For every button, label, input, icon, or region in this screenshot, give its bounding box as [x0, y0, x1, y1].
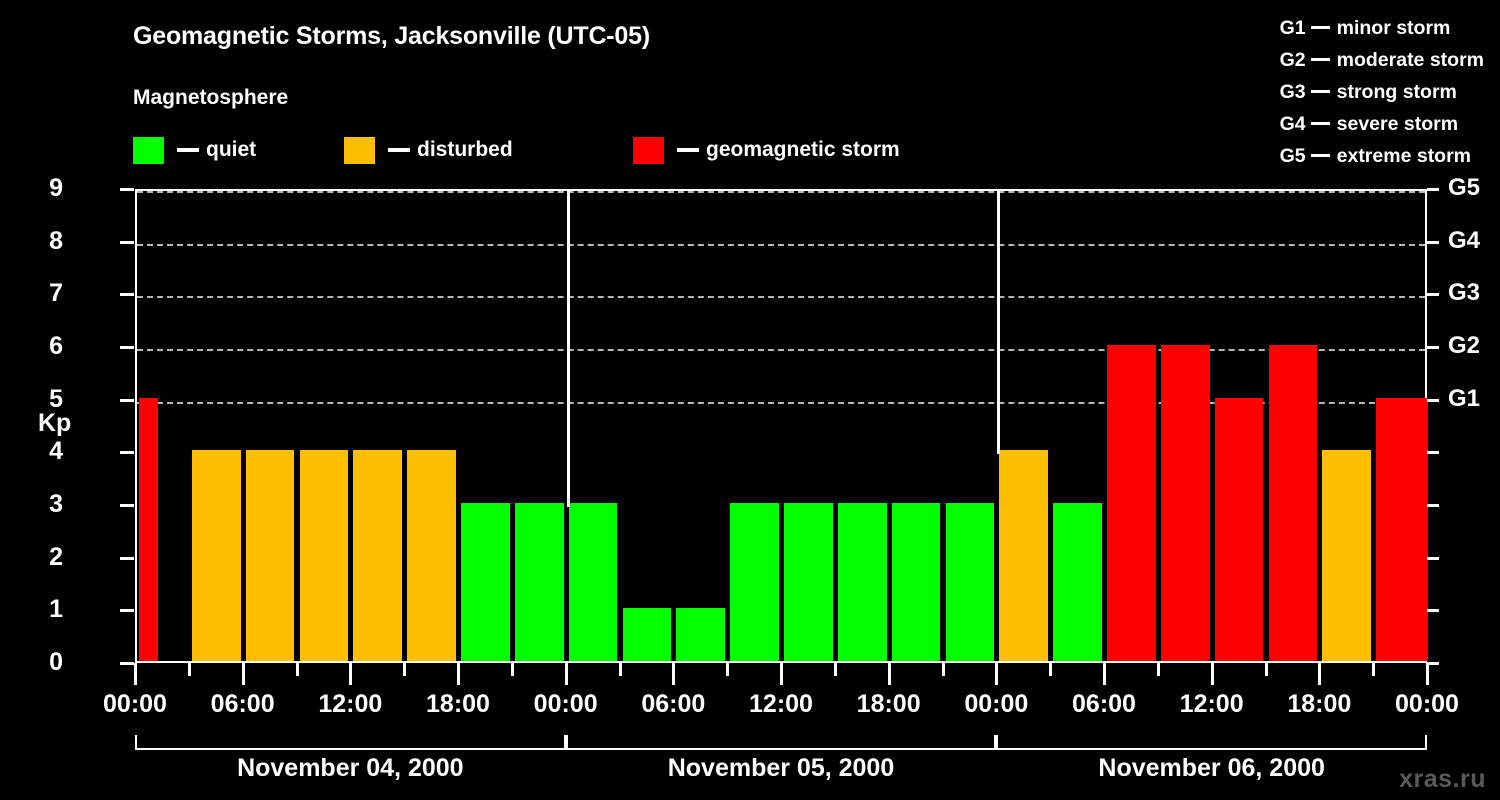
gscale-text: extreme storm [1337, 145, 1471, 167]
y-axis-right-tick-mark [1427, 399, 1439, 402]
page-title: Geomagnetic Storms, Jacksonville (UTC-05… [133, 22, 650, 51]
y-axis-tick-label: 7 [23, 281, 63, 306]
g-axis-tick-label: G1 [1448, 387, 1480, 411]
y-axis-right-tick-mark [1427, 609, 1439, 612]
y-axis-tick-mark [120, 399, 134, 402]
x-axis-minor-tick-mark [1265, 663, 1268, 676]
gscale-text: severe storm [1337, 113, 1458, 135]
gridline-kp-8 [137, 244, 1425, 246]
bar-kp [1322, 450, 1371, 661]
y-axis-tick-label: 1 [23, 597, 63, 622]
day-bracket-rule [996, 748, 1427, 750]
gscale-row-g1: G1minor storm [1280, 12, 1484, 44]
x-axis-tick-mark [888, 663, 891, 685]
gridline-kp-6 [137, 349, 1425, 351]
gscale-dash-icon [1311, 122, 1330, 125]
x-axis-tick-mark [565, 663, 568, 685]
x-axis-minor-tick-mark [403, 663, 406, 676]
gscale-code: G4 [1280, 113, 1306, 135]
bar-kp [999, 450, 1048, 661]
x-axis-minor-tick-mark [942, 663, 945, 676]
x-axis-tick-mark [457, 663, 460, 685]
legend-dash-icon [177, 148, 199, 152]
y-axis-tick-mark [120, 346, 134, 349]
day-divider-line [997, 191, 1000, 454]
bar-kp [515, 503, 564, 661]
gscale-code: G3 [1280, 81, 1306, 103]
g-axis-tick-label: G4 [1448, 229, 1480, 253]
g-axis-tick-label: G5 [1448, 176, 1480, 200]
bar-kp [676, 608, 725, 661]
gscale-text: moderate storm [1337, 49, 1484, 71]
y-axis-right-tick-mark [1427, 346, 1439, 349]
magnetosphere-label: Magnetosphere [133, 86, 288, 110]
gscale-row-g5: G5extreme storm [1280, 140, 1484, 172]
day-bracket-cap [996, 735, 998, 750]
y-axis-tick-mark [120, 504, 134, 507]
day-bracket-cap [1425, 735, 1427, 750]
bar-kp [1053, 503, 1102, 661]
y-axis-tick-mark [120, 609, 134, 612]
y-axis-tick-mark [120, 557, 134, 560]
bar-kp [1409, 398, 1428, 661]
gscale-dash-icon [1311, 90, 1330, 93]
day-label: November 05, 2000 [566, 754, 997, 783]
x-axis-minor-tick-mark [1157, 663, 1160, 676]
legend-item-geomagnetic-storm: geomagnetic storm [633, 134, 900, 166]
x-axis-tick-mark [242, 663, 245, 685]
chart-plot-area [135, 189, 1427, 663]
legend-label: geomagnetic storm [706, 138, 900, 162]
x-axis-tick-mark [134, 663, 137, 685]
bar-kp [192, 450, 241, 661]
bar-kp [300, 450, 349, 661]
bar-kp [246, 450, 295, 661]
day-bracket-cap [135, 735, 137, 750]
bar-kp [569, 503, 618, 661]
gscale-code: G2 [1280, 49, 1306, 71]
gscale-row-g2: G2moderate storm [1280, 44, 1484, 76]
bar-kp [461, 503, 510, 661]
legend-dash-icon [388, 148, 410, 152]
y-axis-tick-label: 4 [23, 439, 63, 464]
bar-kp [1161, 345, 1210, 661]
legend-item-disturbed: disturbed [344, 134, 513, 166]
bar-kp [892, 503, 941, 661]
day-divider-line [567, 191, 570, 507]
x-axis-minor-tick-mark [834, 663, 837, 676]
g-axis-tick-label: G3 [1448, 281, 1480, 305]
x-axis-tick-label: 00:00 [1347, 690, 1500, 719]
y-axis-tick-mark [120, 293, 134, 296]
day-bracket-rule [135, 748, 566, 750]
y-axis-right-tick-mark [1427, 293, 1439, 296]
day-bracket-rule [566, 748, 997, 750]
y-axis-right-tick-mark [1427, 451, 1439, 454]
x-axis-minor-tick-mark [1049, 663, 1052, 676]
x-axis-tick-mark [995, 663, 998, 685]
x-axis-tick-mark [1211, 663, 1214, 685]
gscale-code: G5 [1280, 145, 1306, 167]
green-square-swatch [133, 137, 164, 164]
gscale-dash-icon [1311, 26, 1330, 29]
y-axis-tick-mark [120, 241, 134, 244]
legend-dash-icon [677, 148, 699, 152]
g-scale-legend: G1minor stormG2moderate stormG3strong st… [1280, 12, 1484, 172]
x-axis-tick-mark [1103, 663, 1106, 685]
legend-label: disturbed [417, 138, 513, 162]
y-axis-tick-label: 3 [23, 492, 63, 517]
g-axis-tick-label: G2 [1448, 334, 1480, 358]
gscale-text: minor storm [1337, 17, 1451, 39]
x-axis-minor-tick-mark [188, 663, 191, 676]
bar-kp [1269, 345, 1318, 661]
y-axis-title: Kp [38, 409, 71, 438]
y-axis-tick-label: 6 [23, 334, 63, 359]
x-axis-minor-tick-mark [726, 663, 729, 676]
y-axis-tick-mark [120, 451, 134, 454]
y-axis-tick-label: 9 [23, 176, 63, 201]
bar-kp [946, 503, 995, 661]
x-axis-tick-mark [1318, 663, 1321, 685]
day-bracket-cap [566, 735, 568, 750]
day-label: November 06, 2000 [996, 754, 1427, 783]
gscale-row-g3: G3strong storm [1280, 76, 1484, 108]
gridline-kp-7 [137, 296, 1425, 298]
y-axis-right-tick-mark [1427, 241, 1439, 244]
gscale-dash-icon [1311, 154, 1330, 157]
orange-square-swatch [344, 137, 375, 164]
y-axis-tick-label: 8 [23, 229, 63, 254]
red-square-swatch [633, 137, 664, 164]
bar-kp [838, 503, 887, 661]
gscale-dash-icon [1311, 58, 1330, 61]
y-axis-tick-mark [120, 188, 134, 191]
y-axis-right-tick-mark [1427, 557, 1439, 560]
x-axis-tick-mark [349, 663, 352, 685]
gridline-kp-9 [137, 191, 1425, 193]
y-axis-tick-label: 0 [23, 650, 63, 675]
bar-kp [1107, 345, 1156, 661]
y-axis-tick-mark [120, 662, 134, 665]
bar-kp [730, 503, 779, 661]
x-axis-minor-tick-mark [511, 663, 514, 676]
watermark: xras.ru [1399, 765, 1486, 794]
y-axis-right-tick-mark [1427, 188, 1439, 191]
y-axis-tick-label: 2 [23, 545, 63, 570]
x-axis-tick-mark [672, 663, 675, 685]
legend-label: quiet [206, 138, 256, 162]
bar-kp [407, 450, 456, 661]
gscale-code: G1 [1280, 17, 1306, 39]
x-axis-minor-tick-mark [1372, 663, 1375, 676]
x-axis-tick-mark [780, 663, 783, 685]
bar-kp [784, 503, 833, 661]
gscale-text: strong storm [1337, 81, 1457, 103]
gscale-row-g4: G4severe storm [1280, 108, 1484, 140]
day-label: November 04, 2000 [135, 754, 566, 783]
bar-kp [623, 608, 672, 661]
y-axis-tick-label: 5 [23, 387, 63, 412]
y-axis-right-tick-mark [1427, 504, 1439, 507]
bar-kp [1215, 398, 1264, 661]
bar-kp [139, 398, 158, 661]
x-axis-minor-tick-mark [296, 663, 299, 676]
x-axis-minor-tick-mark [619, 663, 622, 676]
plot-inner [137, 191, 1425, 661]
legend-item-quiet: quiet [133, 134, 256, 166]
x-axis-tick-mark [1426, 663, 1429, 685]
bar-kp [353, 450, 402, 661]
